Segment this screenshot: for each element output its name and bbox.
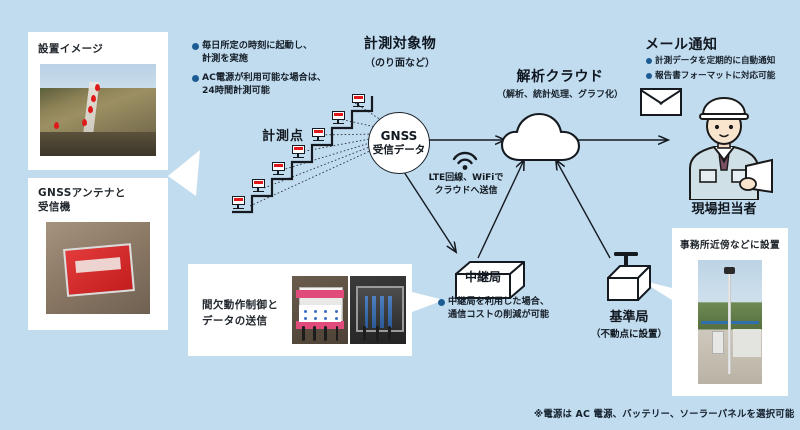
- receiver-case: [63, 243, 135, 297]
- base-station-label: 基準局: [572, 306, 686, 325]
- callout-wedge-install: [168, 150, 200, 196]
- base-station-box-icon: [598, 252, 660, 312]
- photo-pin: [82, 119, 87, 126]
- sensor-body: [272, 162, 285, 171]
- controller-cable: [313, 326, 316, 341]
- bullet-dot-icon: [438, 299, 445, 306]
- mail-note-item: 報告書フォーマットに対応可能: [646, 70, 796, 82]
- legend-label-relay: 中継局: [136, 144, 150, 150]
- controller-cable: [302, 326, 305, 341]
- sensor-body: [312, 128, 325, 137]
- sensor-icon: [232, 196, 245, 210]
- mail-note-text: 報告書フォーマットに対応可能: [655, 70, 775, 82]
- mail-notes: 計測データを定期的に自動通知 報告書フォーマットに対応可能: [646, 55, 796, 85]
- gnss-data-bubble: GNSS 受信データ: [368, 112, 430, 174]
- sensor-icon: [272, 162, 285, 176]
- sensor-base: [293, 157, 304, 159]
- pole-mast: [728, 270, 731, 374]
- install-card-title: 設置イメージ: [38, 42, 103, 56]
- gnss-line2: 受信データ: [373, 144, 426, 157]
- controller-dot: [335, 310, 338, 313]
- relay-label: 中継局: [450, 268, 516, 285]
- gnss-line1: GNSS: [381, 129, 418, 144]
- pole-wall: [733, 329, 761, 356]
- photo-pin: [88, 106, 93, 113]
- office-card-title: 事務所近傍などに設置: [672, 240, 788, 253]
- field-worker-avatar: [672, 96, 776, 200]
- sensor-body: [352, 94, 365, 103]
- legend-label-observation: 観測点: [136, 137, 150, 143]
- photo-legend: 観測点 中継局: [127, 135, 153, 152]
- controller-dot: [335, 317, 338, 320]
- cloud-heading-group: 解析クラウド （解析、統計処理、グラフ化）: [480, 66, 640, 100]
- sensor-base: [353, 106, 364, 108]
- photo-pin: [95, 84, 100, 91]
- legend-row-observation: 観測点: [130, 137, 150, 143]
- bullet-dot-icon: [646, 73, 652, 79]
- target-heading-group: 計測対象物 （のり面など）: [340, 33, 460, 69]
- sensor-icon: [352, 94, 365, 108]
- sensor-icon: [312, 128, 325, 142]
- note-item: 毎日所定の時刻に起動し、 計測を実施: [192, 40, 342, 66]
- cloud-heading: 解析クラウド: [480, 66, 640, 86]
- left-notes: 毎日所定の時刻に起動し、 計測を実施 AC電源が利用可能な場合は、 24時間計測…: [192, 40, 342, 101]
- terminal-block: [372, 296, 376, 327]
- blue-antenna-icon: [130, 144, 134, 150]
- controller-cable: [324, 326, 327, 341]
- bullet-dot-icon: [192, 75, 199, 82]
- sensor-base: [253, 191, 264, 193]
- pole-antenna-head: [724, 267, 735, 273]
- controller-card: 間欠動作制御と データの送信: [188, 264, 412, 356]
- bullet-dot-icon: [192, 43, 199, 50]
- controller-card-title: 間欠動作制御と データの送信: [202, 298, 278, 330]
- sensor-base: [233, 208, 244, 210]
- sensor-icon: [332, 111, 345, 125]
- worker-label: 現場担当者: [672, 198, 776, 217]
- photo-pin: [54, 122, 59, 129]
- controller-cable: [388, 326, 391, 341]
- controller-cable: [363, 326, 366, 341]
- gnss-antenna-receiver-photo: [46, 222, 150, 314]
- sensor-body: [252, 179, 265, 188]
- legend-row-relay: 中継局: [130, 144, 150, 150]
- controller-enclosure-photo: [292, 276, 348, 344]
- relay-note-text: 中継局を利用した場合、 通信コストの削減が可能: [448, 296, 549, 322]
- wifi-icon: [450, 148, 480, 170]
- red-pin-icon: [130, 137, 134, 143]
- controller-title-line1: 間欠動作制御と: [202, 298, 278, 314]
- terminal-block: [388, 296, 392, 327]
- sensor-ray-group: [250, 101, 384, 206]
- note-text: 毎日所定の時刻に起動し、 計測を実施: [202, 40, 312, 66]
- sensor-base: [273, 174, 284, 176]
- bullet-dot-icon: [646, 58, 652, 64]
- note-text: AC電源が利用可能な場合は、 24時間計測可能: [202, 72, 326, 98]
- transmission-note: LTE回線、WiFiで クラウドへ送信: [418, 172, 514, 198]
- controller-band-top: [296, 290, 343, 298]
- cloud-subheading: （解析、統計処理、グラフ化）: [480, 87, 640, 100]
- sensor-base: [313, 140, 324, 142]
- target-subheading: （のり面など）: [340, 54, 460, 69]
- base-station-sub: （不動点に設置）: [572, 326, 686, 340]
- arrow-base-to-cloud: [556, 160, 610, 258]
- measurement-points-label: 計測点: [262, 125, 304, 144]
- sensor-body: [232, 196, 245, 205]
- power-source-footnote: ※電源は AC 電源、バッテリー、ソーラーパネルを選択可能: [534, 406, 794, 420]
- base-station-pole-photo: [698, 260, 762, 384]
- slope-installation-photo: 観測点 中継局: [40, 64, 156, 156]
- receiver-label: [75, 258, 121, 273]
- base-station-label-group: 基準局 （不動点に設置）: [572, 306, 686, 340]
- relay-note: 中継局を利用した場合、 通信コストの削減が可能: [438, 296, 588, 325]
- transmission-line2: クラウドへ送信: [418, 185, 514, 198]
- office-installation-card: 事務所近傍などに設置: [672, 228, 788, 396]
- controller-title-line2: データの送信: [202, 314, 278, 330]
- sensor-base: [333, 123, 344, 125]
- mail-note-item: 計測データを定期的に自動通知: [646, 55, 796, 67]
- target-heading: 計測対象物: [340, 33, 460, 53]
- antenna-card-title: GNSSアンテナと 受信機: [38, 186, 126, 214]
- relay-note-item: 中継局を利用した場合、 通信コストの削減が可能: [438, 296, 588, 322]
- sensor-body: [332, 111, 345, 120]
- install-image-card: 設置イメージ 観測点 中継局: [28, 32, 168, 170]
- transmission-line1: LTE回線、WiFiで: [418, 172, 514, 185]
- pole-cabinet: [712, 331, 724, 354]
- sensor-icon: [292, 145, 305, 159]
- antenna-receiver-card: GNSSアンテナと 受信機: [28, 178, 168, 330]
- controller-internals-photo: [350, 276, 406, 344]
- terminal-block: [365, 296, 369, 327]
- mail-note-text: 計測データを定期的に自動通知: [655, 55, 775, 67]
- antenna-card-title-line2: 受信機: [38, 200, 126, 214]
- cloud-icon: [498, 108, 584, 168]
- controller-cable: [376, 326, 379, 341]
- diagram-canvas: 設置イメージ 観測点 中継局 GNSSアンテナと 受信機: [0, 0, 800, 430]
- mail-heading: メール通知: [645, 34, 718, 54]
- sensor-body: [292, 145, 305, 154]
- terminal-block: [380, 296, 384, 327]
- sensor-icon: [252, 179, 265, 193]
- note-item: AC電源が利用可能な場合は、 24時間計測可能: [192, 72, 342, 98]
- antenna-card-title-line1: GNSSアンテナと: [38, 186, 126, 200]
